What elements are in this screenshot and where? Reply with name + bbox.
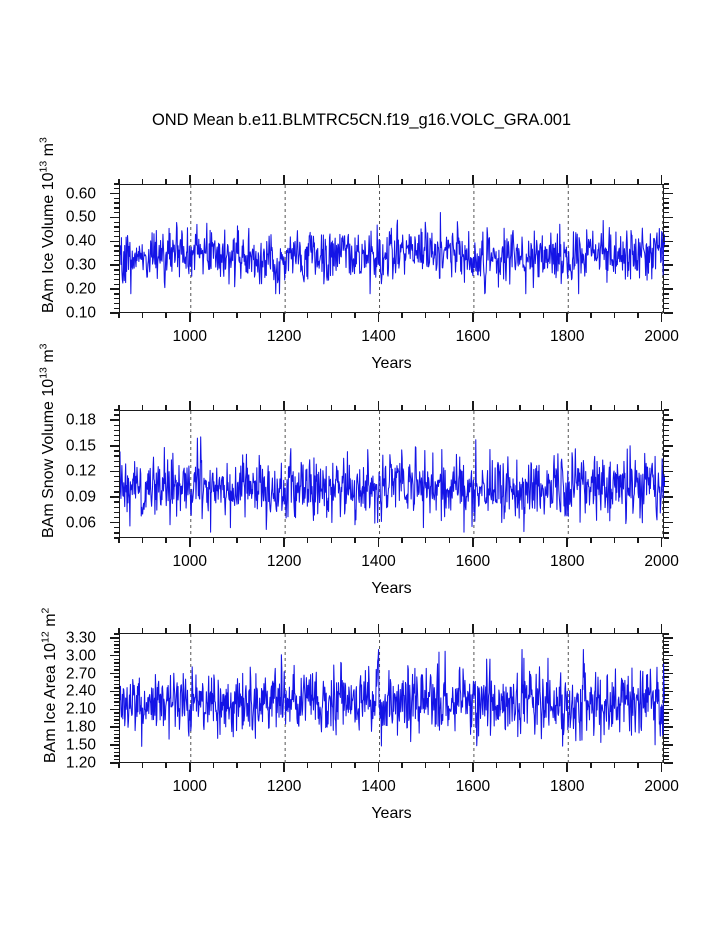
- xtick-minor-top: [590, 405, 591, 410]
- yaxis-text: BAm Ice Area 10: [42, 643, 59, 763]
- yaxis-exponent: 13: [38, 161, 50, 173]
- ytick-minor-right: [664, 250, 669, 251]
- xtick-minor: [543, 763, 544, 768]
- ytick-minor: [114, 716, 119, 717]
- ytick-major-right: [664, 445, 673, 447]
- ytick-minor: [114, 245, 119, 246]
- ytick-minor: [114, 687, 119, 688]
- xtick-minor: [236, 763, 237, 768]
- yaxis-exponent: 13: [38, 367, 50, 379]
- xtick-label: 2000: [644, 779, 678, 795]
- ytick-minor-right: [664, 450, 669, 451]
- ytick-minor: [114, 466, 119, 467]
- xtick-major: [661, 763, 663, 772]
- ytick-major-right: [664, 312, 673, 314]
- xtick-major: [378, 538, 380, 547]
- ytick-minor-right: [664, 741, 669, 742]
- xtick-minor: [519, 313, 520, 318]
- ytick-minor-right: [664, 759, 669, 760]
- xtick-label: 1200: [267, 329, 301, 345]
- ytick-minor: [114, 532, 119, 533]
- ytick-minor-right: [664, 698, 669, 699]
- xtick-minor: [307, 538, 308, 543]
- ytick-minor: [114, 250, 119, 251]
- ytick-minor: [114, 260, 119, 261]
- xtick-minor-top: [637, 179, 638, 184]
- ytick-major-right: [664, 744, 673, 746]
- ytick-minor-right: [664, 245, 669, 246]
- ytick-minor: [114, 666, 119, 667]
- plot-canvas-1: [120, 185, 665, 314]
- ytick-minor-right: [664, 188, 669, 189]
- xtick-minor: [614, 538, 615, 543]
- xtick-major: [283, 763, 285, 772]
- ytick-minor-right: [664, 491, 669, 492]
- xtick-label: 1000: [173, 329, 207, 345]
- xtick-minor: [118, 538, 119, 543]
- xtick-minor-top: [236, 628, 237, 633]
- xtick-minor-top: [142, 405, 143, 410]
- xtick-minor-top: [331, 405, 332, 410]
- xtick-minor: [401, 313, 402, 318]
- xtick-minor-top: [331, 628, 332, 633]
- xtick-minor: [425, 538, 426, 543]
- ytick-minor-right: [664, 486, 669, 487]
- ytick-minor: [114, 755, 119, 756]
- ytick-major-right: [664, 241, 673, 243]
- ytick-minor: [114, 748, 119, 749]
- ytick-minor-right: [664, 274, 669, 275]
- xtick-minor-top: [425, 628, 426, 633]
- ytick-minor-right: [664, 662, 669, 663]
- ytick-major-right: [664, 193, 673, 195]
- xtick-minor-top: [637, 628, 638, 633]
- ytick-minor: [114, 694, 119, 695]
- ytick-minor: [114, 274, 119, 275]
- xtick-minor: [260, 763, 261, 768]
- page-title: OND Mean b.e11.BLMTRC5CN.f19_g16.VOLC_GR…: [0, 111, 723, 130]
- xtick-minor: [331, 538, 332, 543]
- ytick-minor-right: [664, 255, 669, 256]
- xtick-major: [472, 313, 474, 322]
- xtick-major-top: [189, 401, 191, 410]
- ytick-major-right: [664, 762, 673, 764]
- ytick-minor-right: [664, 435, 669, 436]
- xtick-major: [566, 538, 568, 547]
- ytick-minor: [114, 501, 119, 502]
- ytick-minor: [114, 212, 119, 213]
- ytick-minor-right: [664, 527, 669, 528]
- ytick-minor-right: [664, 694, 669, 695]
- xtick-label: 1200: [267, 554, 301, 570]
- ytick-major: [110, 264, 119, 266]
- xtick-minor-top: [401, 405, 402, 410]
- xtick-minor: [354, 538, 355, 543]
- ytick-minor: [114, 659, 119, 660]
- xtick-label: 1000: [173, 554, 207, 570]
- xtick-minor-top: [401, 628, 402, 633]
- ytick-minor-right: [664, 705, 669, 706]
- xtick-minor-top: [165, 179, 166, 184]
- ytick-minor: [114, 450, 119, 451]
- ytick-minor: [114, 676, 119, 677]
- xtick-major-top: [189, 624, 191, 633]
- ytick-minor-right: [664, 676, 669, 677]
- ytick-minor-right: [664, 734, 669, 735]
- xtick-minor-top: [496, 405, 497, 410]
- ytick-minor: [114, 476, 119, 477]
- xtick-minor-top: [260, 628, 261, 633]
- ytick-minor-right: [664, 719, 669, 720]
- ytick-minor-right: [664, 517, 669, 518]
- ytick-minor: [114, 293, 119, 294]
- ytick-major: [110, 673, 119, 675]
- ytick-minor: [114, 198, 119, 199]
- yaxis-exponent: 2: [40, 608, 52, 614]
- ytick-minor-right: [664, 183, 669, 184]
- plot-area-2: [119, 410, 664, 538]
- xtick-major-top: [283, 401, 285, 410]
- xtick-minor: [260, 538, 261, 543]
- ytick-minor: [114, 279, 119, 280]
- data-series-2: [120, 437, 665, 532]
- ytick-minor: [114, 680, 119, 681]
- xtick-minor-top: [142, 628, 143, 633]
- ytick-major-right: [664, 691, 673, 693]
- xtick-minor-top: [519, 405, 520, 410]
- xtick-minor: [142, 763, 143, 768]
- ytick-major: [110, 445, 119, 447]
- xtick-minor: [543, 313, 544, 318]
- xtick-minor-top: [307, 405, 308, 410]
- data-series-1: [120, 212, 665, 293]
- xtick-minor: [519, 763, 520, 768]
- ytick-minor-right: [664, 461, 669, 462]
- xtick-minor: [354, 763, 355, 768]
- ytick-minor-right: [664, 712, 669, 713]
- xtick-major: [566, 313, 568, 322]
- xtick-minor-top: [425, 179, 426, 184]
- xtick-label: 1600: [456, 554, 490, 570]
- xtick-minor-top: [543, 405, 544, 410]
- xtick-major-top: [661, 401, 663, 410]
- xtick-minor: [118, 763, 119, 768]
- xtick-major-top: [283, 624, 285, 633]
- plot-area-3: [119, 633, 664, 763]
- ytick-minor: [114, 517, 119, 518]
- ytick-major: [110, 217, 119, 219]
- xtick-major: [378, 313, 380, 322]
- ytick-minor: [114, 712, 119, 713]
- ytick-major: [110, 471, 119, 473]
- ytick-minor-right: [664, 684, 669, 685]
- ytick-minor-right: [664, 669, 669, 670]
- ytick-minor-right: [664, 716, 669, 717]
- xtick-minor: [590, 313, 591, 318]
- ytick-minor: [114, 414, 119, 415]
- ytick-minor-right: [664, 730, 669, 731]
- ytick-major-right: [664, 637, 673, 639]
- ytick-minor-right: [664, 537, 669, 538]
- ytick-minor-right: [664, 425, 669, 426]
- ytick-major: [110, 709, 119, 711]
- xtick-minor-top: [590, 179, 591, 184]
- xtick-label: 1800: [550, 779, 584, 795]
- xtick-minor-top: [236, 405, 237, 410]
- ytick-minor: [114, 481, 119, 482]
- ytick-major-right: [664, 288, 673, 290]
- xtick-minor-top: [118, 179, 119, 184]
- ytick-major-right: [664, 673, 673, 675]
- xtick-major-top: [189, 175, 191, 184]
- ytick-minor: [114, 741, 119, 742]
- ytick-minor: [114, 752, 119, 753]
- xtick-minor-top: [354, 179, 355, 184]
- ytick-minor-right: [664, 641, 669, 642]
- yaxis-title: BAm Ice Volume 1013 m3: [40, 137, 58, 313]
- yaxis-exponent: 3: [38, 343, 50, 349]
- xtick-minor-top: [213, 405, 214, 410]
- xtick-minor-top: [236, 179, 237, 184]
- xtick-minor-top: [118, 628, 119, 633]
- xtick-label: 2000: [644, 329, 678, 345]
- xtick-major-top: [472, 401, 474, 410]
- xtick-label: 1400: [361, 554, 395, 570]
- ytick-minor: [114, 202, 119, 203]
- xtick-minor: [165, 313, 166, 318]
- ytick-minor-right: [664, 755, 669, 756]
- ytick-minor-right: [664, 236, 669, 237]
- xtick-minor: [118, 313, 119, 318]
- ytick-minor: [114, 633, 119, 634]
- ytick-major: [110, 288, 119, 290]
- ytick-minor: [114, 207, 119, 208]
- ytick-minor-right: [664, 207, 669, 208]
- xtick-minor-top: [519, 179, 520, 184]
- yaxis-text: m: [40, 349, 57, 367]
- ytick-minor: [114, 435, 119, 436]
- xtick-minor: [449, 763, 450, 768]
- ytick-minor-right: [664, 651, 669, 652]
- ytick-minor-right: [664, 284, 669, 285]
- ytick-minor-right: [664, 752, 669, 753]
- ytick-minor-right: [664, 648, 669, 649]
- yaxis-text: m: [42, 613, 59, 631]
- ytick-major: [110, 419, 119, 421]
- ytick-major: [110, 655, 119, 657]
- ytick-minor: [114, 284, 119, 285]
- ytick-minor-right: [664, 701, 669, 702]
- xtick-minor-top: [425, 405, 426, 410]
- ytick-major-right: [664, 471, 673, 473]
- ytick-minor: [114, 226, 119, 227]
- xtick-minor: [142, 538, 143, 543]
- xtick-major-top: [283, 175, 285, 184]
- xtick-major: [472, 538, 474, 547]
- xtick-minor-top: [543, 179, 544, 184]
- ytick-major-right: [664, 726, 673, 728]
- ytick-minor-right: [664, 476, 669, 477]
- xtick-minor-top: [165, 405, 166, 410]
- plot-canvas-2: [120, 411, 665, 539]
- xtick-minor-top: [449, 628, 450, 633]
- ytick-major: [110, 193, 119, 195]
- xtick-major: [283, 313, 285, 322]
- ytick-minor: [114, 231, 119, 232]
- ytick-minor-right: [664, 303, 669, 304]
- xtick-minor: [236, 313, 237, 318]
- yaxis-title: BAm Snow Volume 1013 m3: [40, 343, 58, 538]
- ytick-minor: [114, 303, 119, 304]
- xtick-label: 1400: [361, 779, 395, 795]
- xtick-major-top: [378, 624, 380, 633]
- xtick-minor: [425, 763, 426, 768]
- ytick-minor: [114, 222, 119, 223]
- ytick-minor: [114, 455, 119, 456]
- ytick-minor: [114, 648, 119, 649]
- xtick-minor-top: [213, 179, 214, 184]
- yaxis-text: BAm Snow Volume 10: [40, 379, 57, 538]
- ytick-minor: [114, 701, 119, 702]
- xtick-minor: [425, 313, 426, 318]
- ytick-minor: [114, 641, 119, 642]
- ytick-minor-right: [664, 723, 669, 724]
- xtick-label: 1600: [456, 779, 490, 795]
- xtick-minor: [449, 313, 450, 318]
- ytick-minor-right: [664, 269, 669, 270]
- ytick-minor-right: [664, 231, 669, 232]
- ytick-minor: [114, 269, 119, 270]
- xaxis-title: Years: [371, 580, 411, 598]
- yaxis-exponent: 12: [40, 631, 52, 643]
- ytick-minor: [114, 461, 119, 462]
- ytick-minor-right: [664, 512, 669, 513]
- xtick-minor: [614, 313, 615, 318]
- xtick-minor-top: [614, 628, 615, 633]
- ytick-minor-right: [664, 298, 669, 299]
- xtick-major-top: [566, 401, 568, 410]
- xtick-minor: [590, 538, 591, 543]
- xtick-major-top: [661, 175, 663, 184]
- yaxis-exponent: 3: [38, 137, 50, 143]
- xtick-minor: [590, 763, 591, 768]
- xtick-major-top: [566, 175, 568, 184]
- ytick-major-right: [664, 655, 673, 657]
- xtick-minor-top: [354, 628, 355, 633]
- ytick-minor: [114, 430, 119, 431]
- xtick-major-top: [661, 624, 663, 633]
- xtick-major: [283, 538, 285, 547]
- ytick-minor-right: [664, 659, 669, 660]
- xtick-major: [566, 763, 568, 772]
- ytick-minor-right: [664, 293, 669, 294]
- xtick-minor-top: [354, 405, 355, 410]
- xtick-minor-top: [449, 405, 450, 410]
- ytick-minor: [114, 651, 119, 652]
- xtick-major: [189, 763, 191, 772]
- ytick-minor: [114, 723, 119, 724]
- xtick-minor: [401, 538, 402, 543]
- xtick-minor-top: [331, 179, 332, 184]
- ytick-major: [110, 637, 119, 639]
- xtick-major-top: [566, 624, 568, 633]
- xtick-minor: [637, 313, 638, 318]
- ytick-minor: [114, 644, 119, 645]
- xtick-major-top: [472, 175, 474, 184]
- ytick-minor: [114, 759, 119, 760]
- xtick-minor-top: [401, 179, 402, 184]
- ytick-minor: [114, 705, 119, 706]
- xtick-minor: [496, 538, 497, 543]
- xtick-label: 1000: [173, 779, 207, 795]
- xtick-minor: [637, 538, 638, 543]
- xtick-major: [661, 313, 663, 322]
- xtick-major-top: [378, 175, 380, 184]
- xtick-minor-top: [307, 628, 308, 633]
- xtick-minor-top: [614, 179, 615, 184]
- xtick-minor-top: [637, 405, 638, 410]
- ytick-minor-right: [664, 202, 669, 203]
- ytick-minor: [114, 730, 119, 731]
- xtick-minor: [331, 313, 332, 318]
- ytick-minor-right: [664, 279, 669, 280]
- ytick-major: [110, 522, 119, 524]
- xtick-major: [189, 313, 191, 322]
- ytick-major-right: [664, 264, 673, 266]
- ytick-minor: [114, 298, 119, 299]
- ytick-major: [110, 726, 119, 728]
- xtick-major: [472, 763, 474, 772]
- ytick-minor-right: [664, 226, 669, 227]
- xaxis-title: Years: [371, 805, 411, 823]
- ytick-minor: [114, 737, 119, 738]
- ytick-minor-right: [664, 430, 669, 431]
- figure-canvas: OND Mean b.e11.BLMTRC5CN.f19_g16.VOLC_GR…: [0, 0, 723, 935]
- ytick-minor: [114, 527, 119, 528]
- xtick-minor-top: [496, 179, 497, 184]
- ytick-minor: [114, 255, 119, 256]
- ytick-major: [110, 744, 119, 746]
- xtick-minor-top: [307, 179, 308, 184]
- ytick-minor: [114, 188, 119, 189]
- ytick-major-right: [664, 709, 673, 711]
- xtick-minor-top: [213, 628, 214, 633]
- yaxis-text: m: [40, 143, 57, 161]
- xtick-minor-top: [543, 628, 544, 633]
- ytick-minor: [114, 734, 119, 735]
- ytick-major: [110, 496, 119, 498]
- ytick-major: [110, 241, 119, 243]
- ytick-minor-right: [664, 455, 669, 456]
- ytick-minor: [114, 486, 119, 487]
- xtick-minor: [401, 763, 402, 768]
- ytick-minor-right: [664, 222, 669, 223]
- xtick-minor: [165, 538, 166, 543]
- ytick-minor-right: [664, 198, 669, 199]
- xtick-minor: [496, 313, 497, 318]
- xtick-label: 1400: [361, 329, 395, 345]
- xtick-minor: [260, 313, 261, 318]
- xtick-major-top: [378, 401, 380, 410]
- ytick-minor: [114, 425, 119, 426]
- xtick-major: [378, 763, 380, 772]
- ytick-minor: [114, 507, 119, 508]
- ytick-minor-right: [664, 687, 669, 688]
- xtick-minor-top: [165, 628, 166, 633]
- ytick-minor-right: [664, 680, 669, 681]
- xtick-minor: [307, 763, 308, 768]
- ytick-minor-right: [664, 466, 669, 467]
